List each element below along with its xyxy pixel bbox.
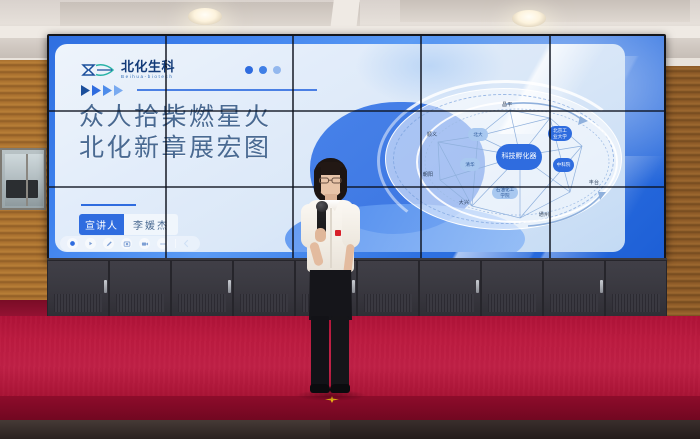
cabinet-handle[interactable] [476,280,479,293]
cabinet-door[interactable] [171,260,233,318]
trouser-leg-left [311,316,329,388]
video-wall-seam [165,36,167,260]
diagram-district-label: 顺义 [426,132,438,138]
network-diagram: 科技孵化器 北大 清华 北京工业大学 中科院 石油化工学院 昌平 顺义 朝阳 大… [410,96,625,236]
presenter-name-label: 李媛杰 [124,214,178,235]
slide-logo: 北化生科 Beihua-biotech [81,60,175,79]
diagram-node: 中科院 [553,158,574,172]
trousers-top [309,270,352,320]
downlight-icon [188,8,222,25]
cabinet-vent [488,294,536,312]
screenshot-root: 北化生科 Beihua-biotech 众人拾柴燃星火 北化新章展宏图 宣讲 [0,0,700,439]
toolbar-divider [175,239,176,248]
cabinet-vent [178,294,226,312]
diagram-node: 北京工业大学 [548,126,572,141]
cabinet-handle[interactable] [600,280,603,293]
shoe-right [330,384,350,393]
party-emblem-badge [335,230,341,236]
monitor-in-window [6,180,38,198]
window-mullion [26,154,28,206]
screenshot-icon[interactable] [121,238,132,249]
video-icon[interactable] [139,238,150,249]
back-icon[interactable] [183,235,190,253]
diagram-node: 清华 [460,158,480,171]
cabinet-door[interactable] [605,260,667,318]
cabinet-door[interactable] [109,260,171,318]
dot [273,66,281,74]
cabinet-vent [364,294,412,312]
video-wall-seam [49,110,664,112]
sleeve-right [342,204,360,248]
media-toolbar[interactable] [60,236,200,251]
cabinet-door[interactable] [233,260,295,318]
glasses-icon [319,177,342,184]
cabinet-vent [550,294,598,312]
dot [259,66,267,74]
record-icon[interactable] [67,238,78,249]
chevron-right-icon [81,84,133,97]
cabinet-vent [612,294,660,312]
subtitle-rule [81,204,136,206]
dot [245,66,253,74]
cabinet-door[interactable] [481,260,543,318]
microphone-head [316,201,328,212]
cabinet-door[interactable] [419,260,481,318]
wall-wood-right [663,66,700,345]
cabinet-vent [240,294,288,312]
diagram-center-node: 科技孵化器 [496,144,542,170]
beihua-logo-icon [81,62,115,78]
slide-title-line1: 众人拾柴燃星火 [79,102,339,133]
diagram-district-label: 昌平 [502,102,513,108]
video-wall-seam [549,36,551,260]
presenter-badge: 宣讲人 李媛杰 [79,214,178,235]
cabinet-vent [426,294,474,312]
header-rule [137,89,317,91]
play-icon[interactable] [85,238,96,249]
diagram-district-label: 朝阳 [422,172,434,178]
cabinet-door[interactable] [543,260,605,318]
cabinet-door[interactable] [47,260,109,318]
video-wall-seam [420,36,422,260]
hand-left [315,228,326,242]
downlight-icon [512,10,546,27]
shirt-placket [330,208,332,268]
diagram-node: 北大 [468,128,488,141]
slide-dots [245,66,281,74]
presenter-tag-label: 宣讲人 [79,214,124,235]
shoe-left [310,384,330,393]
floor [0,420,330,439]
trouser-leg-right [331,316,349,388]
control-room-window [0,148,46,210]
presenter-person [290,158,370,398]
cabinet-vent [54,294,102,312]
cabinet-handle[interactable] [104,280,107,293]
cabinet-vent [116,294,164,312]
cabinet-handle[interactable] [228,280,231,293]
pen-icon[interactable] [103,238,114,249]
diagram-district-label: 大兴 [458,200,470,206]
